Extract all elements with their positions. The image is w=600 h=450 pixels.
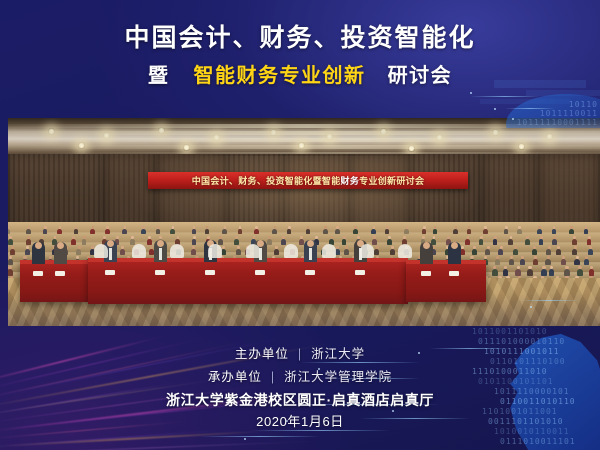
organizer-value: 浙江大学 bbox=[311, 347, 365, 361]
page-title: 中国会计、财务、投资智能化 bbox=[0, 26, 600, 51]
photo-vignette bbox=[8, 118, 600, 326]
subtitle-highlight: 智能财务专业创新 bbox=[194, 66, 366, 86]
hall-scene: 中国会计、财务、投资智能化暨智能财务专业创新研讨会 bbox=[8, 118, 600, 326]
venue-text: 浙江大学紫金港校区圆正·启真酒店启真厅 bbox=[0, 393, 600, 407]
co-organizer-value: 浙江大学管理学院 bbox=[284, 370, 392, 384]
co-organizer-label: 承办单位 bbox=[208, 370, 262, 384]
poster-header: 中国会计、财务、投资智能化 暨 智能财务专业创新 研讨会 bbox=[0, 0, 600, 118]
co-organizer-row: 承办单位|浙江大学管理学院 bbox=[0, 371, 600, 384]
subtitle-suffix: 研讨会 bbox=[388, 66, 453, 86]
organizer-row: 主办单位|浙江大学 bbox=[0, 348, 600, 361]
subtitle-prefix: 暨 bbox=[148, 66, 170, 86]
conference-photo: 中国会计、财务、投资智能化暨智能财务专业创新研讨会 bbox=[8, 118, 600, 326]
page-subtitle: 暨 智能财务专业创新 研讨会 bbox=[0, 66, 600, 86]
event-date: 2020年1月6日 bbox=[0, 415, 600, 428]
poster-canvas: 中国会计、财务、投资智能化 暨 智能财务专业创新 研讨会 中国会计、财务、投资智… bbox=[0, 0, 600, 450]
poster-footer: 主办单位|浙江大学 承办单位|浙江大学管理学院 浙江大学紫金港校区圆正·启真酒店… bbox=[0, 330, 600, 450]
organizer-separator: | bbox=[298, 347, 302, 361]
co-organizer-separator: | bbox=[271, 370, 275, 384]
organizer-label: 主办单位 bbox=[235, 347, 289, 361]
